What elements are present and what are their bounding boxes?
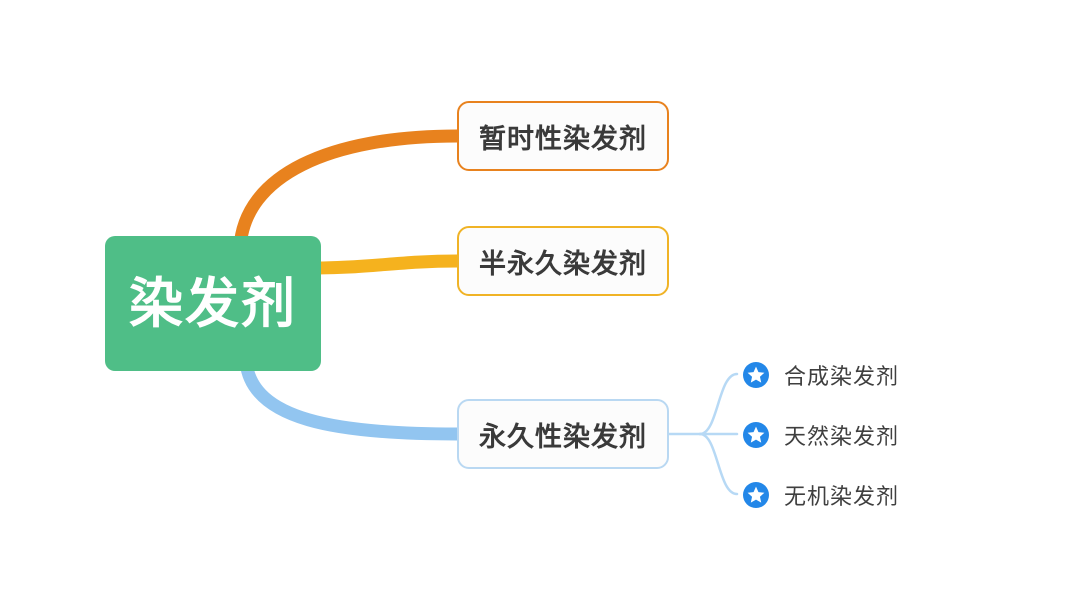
mind-map-canvas: 染发剂 暂时性染发剂 半永久染发剂 永久性染发剂 合成染发剂 天然染发剂 无机染…	[0, 0, 1080, 610]
root-node[interactable]: 染发剂	[105, 236, 321, 371]
leaf-node-inorganic[interactable]: 无机染发剂	[742, 478, 899, 512]
star-circle-icon	[742, 421, 770, 449]
leaf-node-label: 天然染发剂	[784, 419, 899, 451]
branch-node-semi-permanent[interactable]: 半永久染发剂	[457, 226, 669, 296]
leaf-node-label: 合成染发剂	[784, 359, 899, 391]
leaf-node-label: 无机染发剂	[784, 479, 899, 511]
root-node-label: 染发剂	[129, 277, 297, 331]
connector-root-to-branch-0	[240, 136, 457, 248]
connector-root-to-branch-1	[316, 261, 457, 268]
leaf-node-natural[interactable]: 天然染发剂	[742, 418, 899, 452]
branch-node-label: 永久性染发剂	[479, 415, 647, 454]
branch-node-label: 暂时性染发剂	[479, 117, 647, 156]
leaf-node-synthetic[interactable]: 合成染发剂	[742, 358, 899, 392]
connector-root-to-branch-2	[246, 362, 457, 434]
connector-branch-2-to-leaf-2	[700, 434, 737, 494]
branch-node-temporary[interactable]: 暂时性染发剂	[457, 101, 669, 171]
branch-node-label: 半永久染发剂	[479, 242, 647, 281]
branch-node-permanent[interactable]: 永久性染发剂	[457, 399, 669, 469]
star-circle-icon	[742, 481, 770, 509]
connector-branch-2-to-leaf-0	[700, 374, 737, 434]
star-circle-icon	[742, 361, 770, 389]
